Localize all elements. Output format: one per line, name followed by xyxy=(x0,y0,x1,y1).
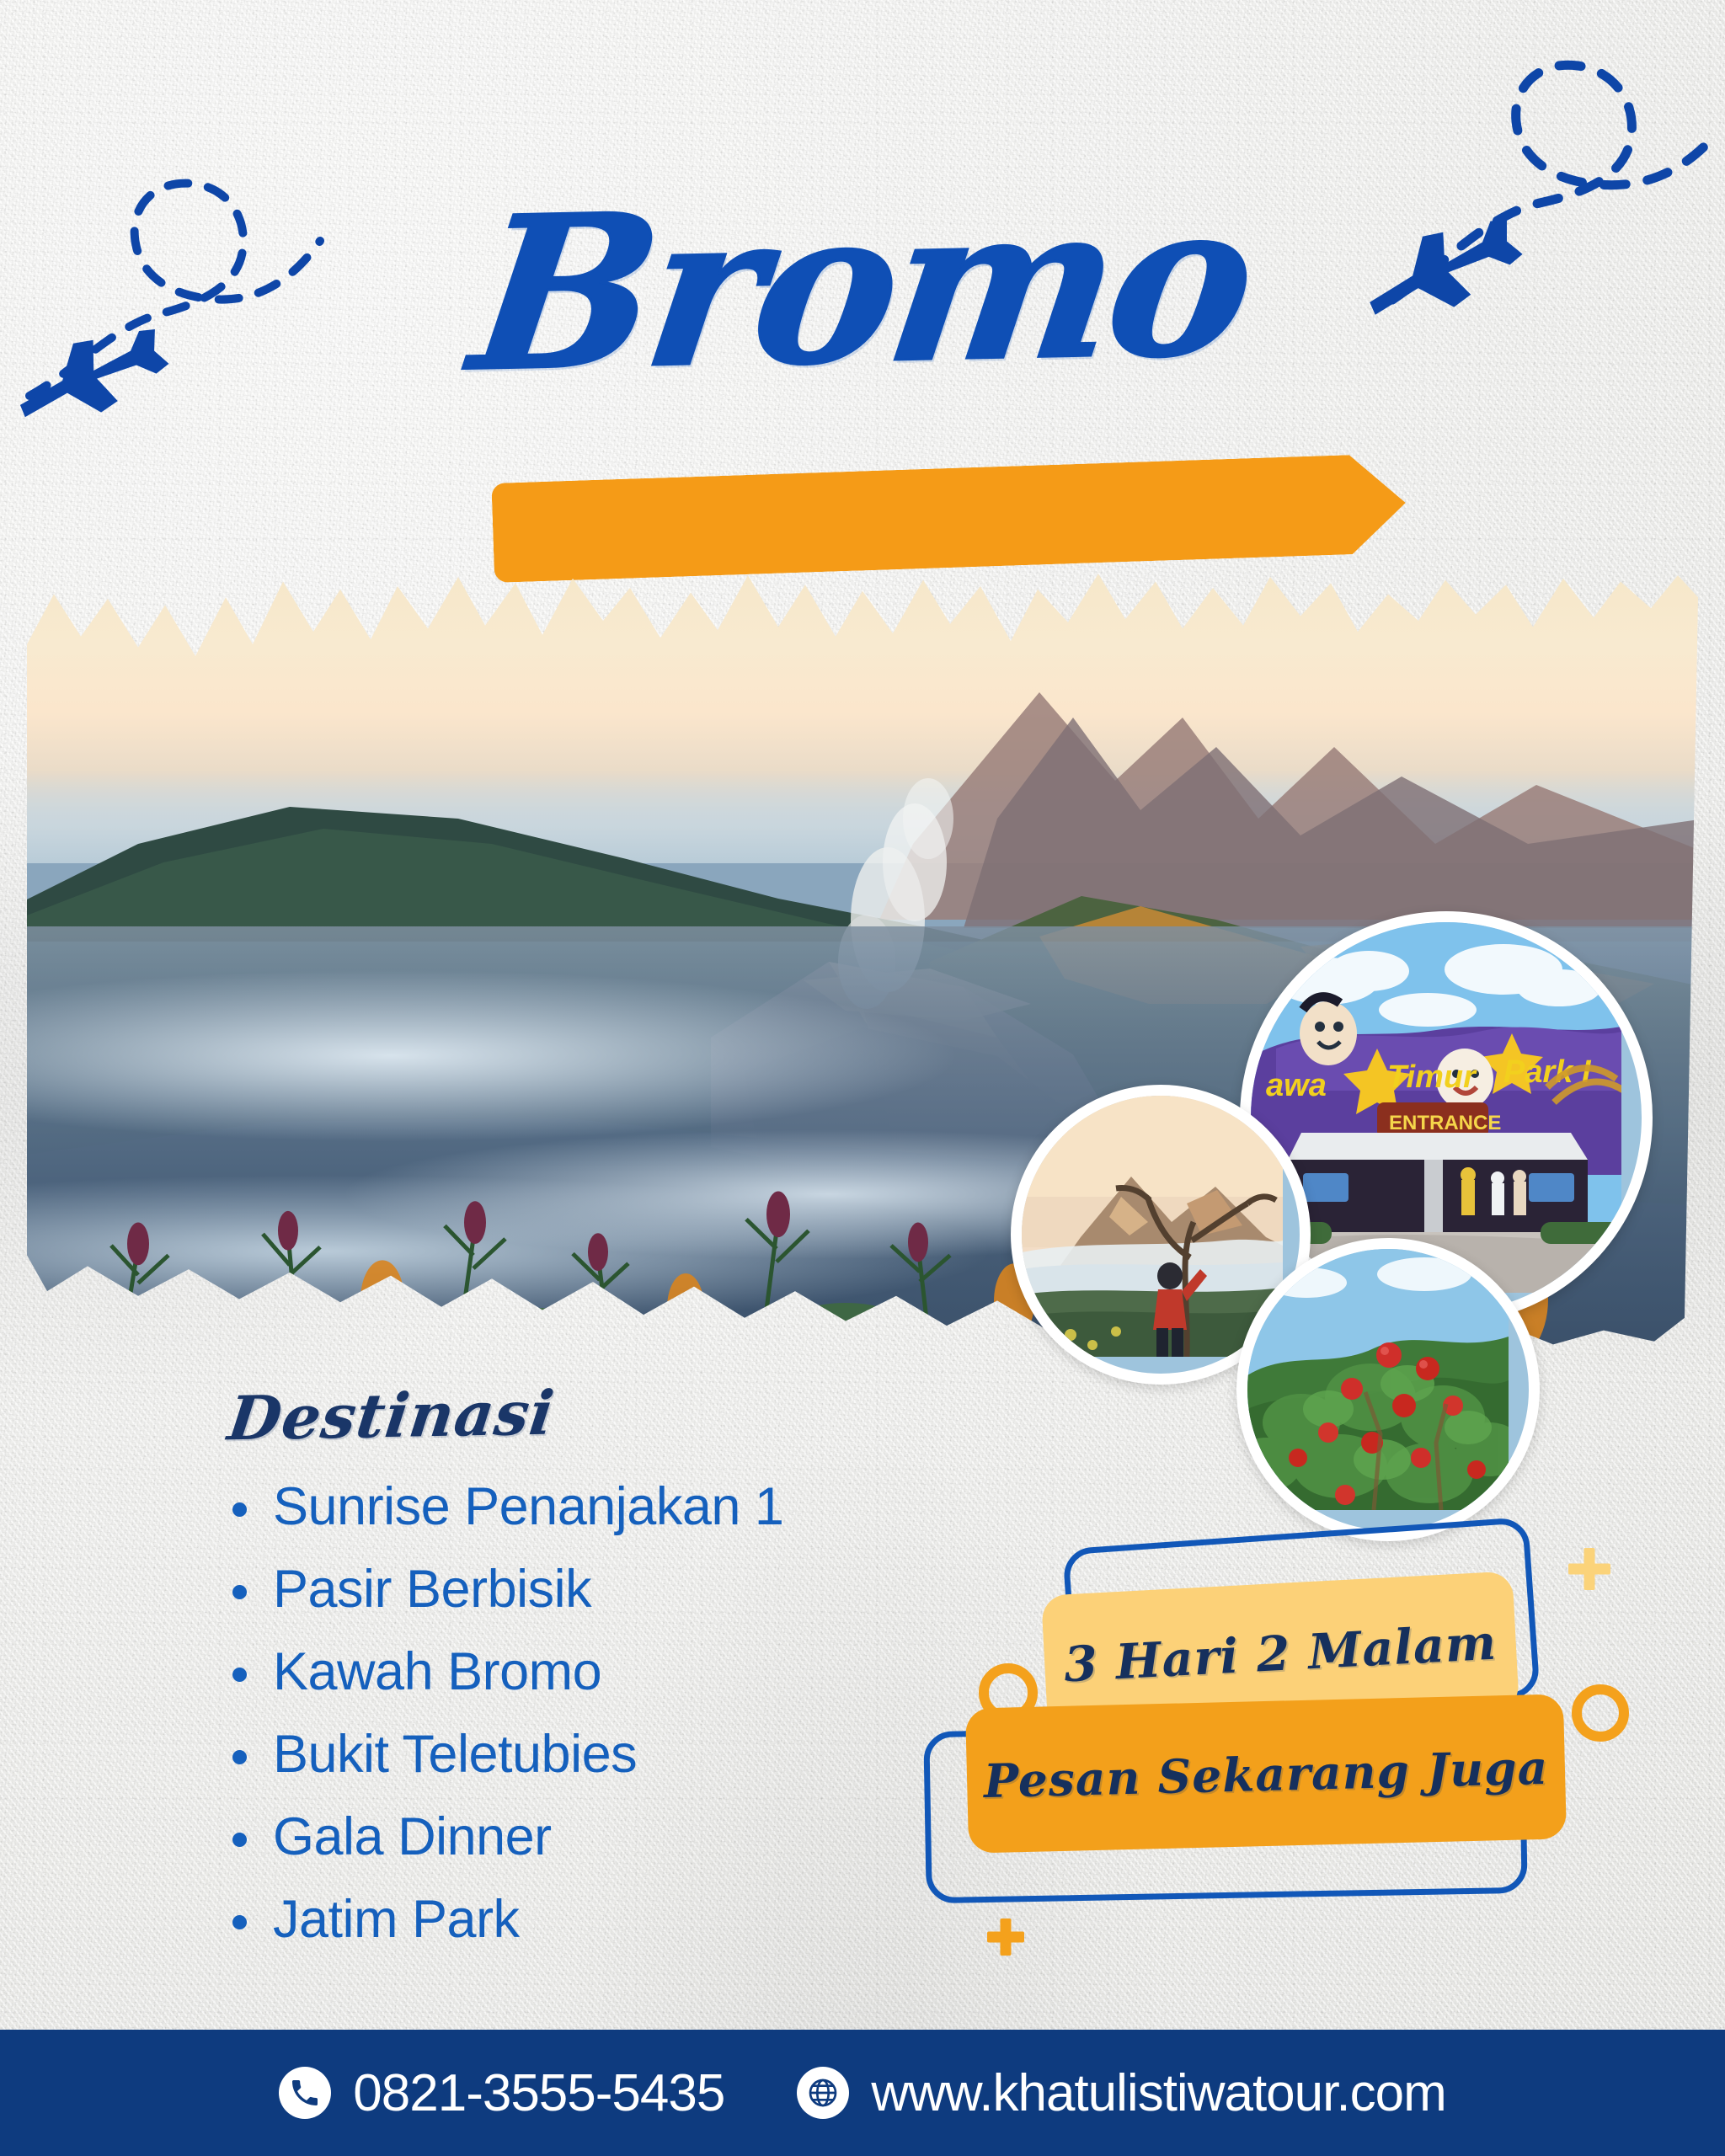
photo-inset-apple-orchard-image xyxy=(1247,1249,1509,1510)
footer-phone[interactable]: 0821-3555-5435 xyxy=(279,2063,724,2123)
phone-number: 0821-3555-5435 xyxy=(353,2063,724,2123)
website-url: www.khatulistiwatour.com xyxy=(871,2063,1445,2123)
list-item: Sunrise Penanjakan 1 xyxy=(221,1465,928,1548)
phone-icon-glyph xyxy=(288,2076,322,2110)
photo-inset-apple-orchard xyxy=(1236,1238,1540,1541)
poster-canvas: Bromo xyxy=(0,0,1725,2156)
destinations-heading: Destinasi xyxy=(224,1377,558,1454)
phone-icon xyxy=(279,2067,331,2119)
ring-decoration-right xyxy=(1572,1684,1629,1742)
list-item: Pasir Berbisik xyxy=(221,1548,928,1630)
list-item: Jatim Park xyxy=(221,1878,928,1961)
svg-text:ENTRANCE: ENTRANCE xyxy=(1389,1112,1501,1134)
list-item: Gala Dinner xyxy=(221,1796,928,1878)
list-item: Bukit Teletubies xyxy=(221,1713,928,1796)
destinations-list: Sunrise Penanjakan 1 Pasir Berbisik Kawa… xyxy=(221,1465,928,1961)
footer-website[interactable]: www.khatulistiwatour.com xyxy=(797,2063,1445,2123)
svg-text:awa: awa xyxy=(1266,1068,1327,1103)
list-item: Kawah Bromo xyxy=(221,1630,928,1713)
page-title: Bromo xyxy=(0,163,1725,410)
photo-inset-bromo-viewpoint-image xyxy=(1022,1096,1283,1357)
plus-decoration-top-right xyxy=(1568,1548,1610,1590)
plus-decoration-bottom-left xyxy=(987,1919,1024,1956)
globe-icon xyxy=(797,2067,849,2119)
cta-badge[interactable]: Pesan Sekarang Juga xyxy=(965,1694,1567,1853)
footer-contact-bar: 0821-3555-5435 www.khatulistiwatour.com xyxy=(0,2030,1725,2156)
globe-icon-glyph xyxy=(806,2076,840,2110)
svg-text:Timur: Timur xyxy=(1387,1059,1477,1095)
